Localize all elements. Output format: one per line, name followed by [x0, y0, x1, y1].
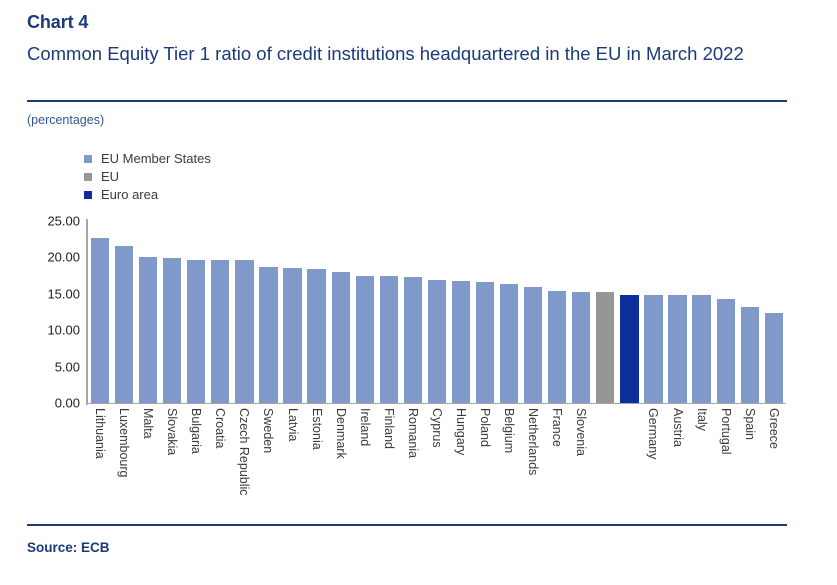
x-label-slot: Sweden [256, 406, 280, 518]
bar-slot [281, 221, 305, 403]
x-axis-tick-label: Slovenia [574, 408, 588, 456]
x-axis-tick-label: Latvia [286, 408, 300, 441]
x-axis-tick-label: Estonia [310, 408, 324, 450]
x-label-slot [617, 406, 641, 518]
x-axis-tick-label: Cyprus [430, 408, 444, 448]
bar-slot [136, 221, 160, 403]
bar[interactable] [259, 267, 277, 403]
bar-slot [208, 221, 232, 403]
bar-slot [762, 221, 786, 403]
bar[interactable] [332, 272, 350, 403]
bar[interactable] [307, 269, 325, 403]
x-axis-tick-label: Italy [695, 408, 709, 431]
bar[interactable] [404, 277, 422, 403]
bar[interactable] [620, 295, 638, 403]
x-label-slot: Netherlands [521, 406, 545, 518]
chart-page: Chart 4 Common Equity Tier 1 ratio of cr… [0, 0, 837, 585]
x-label-slot: Latvia [281, 406, 305, 518]
bar-slot [377, 221, 401, 403]
x-label-slot: Hungary [449, 406, 473, 518]
x-label-slot: France [545, 406, 569, 518]
bar-slot [329, 221, 353, 403]
bar[interactable] [692, 295, 710, 403]
bar[interactable] [187, 260, 205, 403]
bar-slot [401, 221, 425, 403]
x-label-slot: Slovenia [569, 406, 593, 518]
bar-slot [617, 221, 641, 403]
bar[interactable] [235, 260, 253, 403]
x-label-slot: Ireland [353, 406, 377, 518]
bar-slot [473, 221, 497, 403]
bar-slot [666, 221, 690, 403]
x-label-slot [593, 406, 617, 518]
bar[interactable] [380, 276, 398, 403]
x-label-slot: Czech Republic [232, 406, 256, 518]
x-axis-tick-label: Sweden [261, 408, 275, 453]
x-label-slot: Estonia [305, 406, 329, 518]
bar-slot [256, 221, 280, 403]
x-axis-tick-label: Lithuania [93, 408, 107, 459]
x-label-slot: Austria [666, 406, 690, 518]
bar[interactable] [428, 280, 446, 403]
bar-slot [569, 221, 593, 403]
x-label-slot: Finland [377, 406, 401, 518]
bar-slot [160, 221, 184, 403]
y-axis-tick-label: 10.00 [47, 323, 80, 338]
x-axis-tick-label: Germany [646, 408, 660, 459]
bar[interactable] [115, 246, 133, 403]
x-label-slot: Croatia [208, 406, 232, 518]
bar-slot [449, 221, 473, 403]
x-label-slot: Italy [690, 406, 714, 518]
x-axis-tick-label: Greece [767, 408, 781, 449]
bar-slot [88, 221, 112, 403]
x-axis-tick-label: Luxembourg [117, 408, 131, 478]
bar-slot [353, 221, 377, 403]
bar[interactable] [91, 238, 109, 403]
x-label-slot: Belgium [497, 406, 521, 518]
bar[interactable] [596, 292, 614, 403]
x-axis-baseline [86, 403, 786, 404]
x-axis-tick-label: Austria [671, 408, 685, 447]
bar[interactable] [139, 257, 157, 403]
bar-slot [112, 221, 136, 403]
bar-slot [425, 221, 449, 403]
x-axis-tick-label: Malta [141, 408, 155, 439]
bar[interactable] [548, 291, 566, 403]
x-axis-tick-label: Croatia [213, 408, 227, 448]
bar[interactable] [163, 258, 181, 403]
x-label-slot: Romania [401, 406, 425, 518]
x-axis-category-labels: LithuaniaLuxembourgMaltaSlovakiaBulgaria… [88, 406, 786, 518]
bar[interactable] [765, 313, 783, 403]
bar-slot [545, 221, 569, 403]
x-label-slot: Spain [738, 406, 762, 518]
bar[interactable] [500, 284, 518, 403]
bar[interactable] [644, 295, 662, 403]
x-label-slot: Denmark [329, 406, 353, 518]
bar[interactable] [476, 282, 494, 403]
bar-slot [690, 221, 714, 403]
x-axis-tick-label: Netherlands [526, 408, 540, 475]
bar-series [88, 221, 786, 403]
x-axis-tick-label: Finland [382, 408, 396, 449]
source-note: Source: ECB [27, 540, 110, 555]
x-axis-tick-label: Czech Republic [237, 408, 251, 496]
x-axis-tick-label: Denmark [334, 408, 348, 459]
x-label-slot: Greece [762, 406, 786, 518]
x-label-slot: Luxembourg [112, 406, 136, 518]
x-label-slot: Portugal [714, 406, 738, 518]
x-label-slot: Cyprus [425, 406, 449, 518]
x-axis-tick-label: Ireland [358, 408, 372, 446]
y-axis: 0.005.0010.0015.0020.0025.00 [28, 213, 80, 409]
x-axis-tick-label: Portugal [719, 408, 733, 455]
bar-slot [184, 221, 208, 403]
y-axis-tick-label: 15.00 [47, 286, 80, 301]
bar[interactable] [741, 307, 759, 403]
x-label-slot: Malta [136, 406, 160, 518]
bar[interactable] [717, 299, 735, 403]
bar-slot [232, 221, 256, 403]
bar[interactable] [572, 292, 590, 403]
x-axis-tick-label: Hungary [454, 408, 468, 455]
bar[interactable] [211, 260, 229, 403]
bar-slot [641, 221, 665, 403]
bar[interactable] [668, 295, 686, 403]
x-axis-tick-label: Belgium [502, 408, 516, 453]
x-axis-tick-label: France [550, 408, 564, 447]
y-axis-tick-label: 25.00 [47, 214, 80, 229]
bar-slot [305, 221, 329, 403]
bar-slot [497, 221, 521, 403]
x-axis-tick-label: Romania [406, 408, 420, 458]
x-axis-tick-label: Slovakia [165, 408, 179, 455]
bar-slot [738, 221, 762, 403]
x-label-slot: Germany [641, 406, 665, 518]
x-label-slot: Slovakia [160, 406, 184, 518]
x-label-slot: Lithuania [88, 406, 112, 518]
chart-plot-area: 0.005.0010.0015.0020.0025.00 LithuaniaLu… [0, 0, 837, 585]
footer-divider [27, 524, 787, 526]
bar[interactable] [283, 268, 301, 403]
bar-slot [593, 221, 617, 403]
bar-slot [521, 221, 545, 403]
y-axis-tick-label: 5.00 [55, 359, 80, 374]
bar[interactable] [524, 287, 542, 403]
bar[interactable] [452, 281, 470, 403]
x-label-slot: Bulgaria [184, 406, 208, 518]
x-axis-tick-label: Poland [478, 408, 492, 447]
x-axis-tick-label: Spain [743, 408, 757, 440]
y-axis-tick-label: 20.00 [47, 250, 80, 265]
y-axis-tick-label: 0.00 [55, 396, 80, 411]
x-label-slot: Poland [473, 406, 497, 518]
x-axis-tick-label: Bulgaria [189, 408, 203, 454]
bar-slot [714, 221, 738, 403]
bar[interactable] [356, 276, 374, 403]
